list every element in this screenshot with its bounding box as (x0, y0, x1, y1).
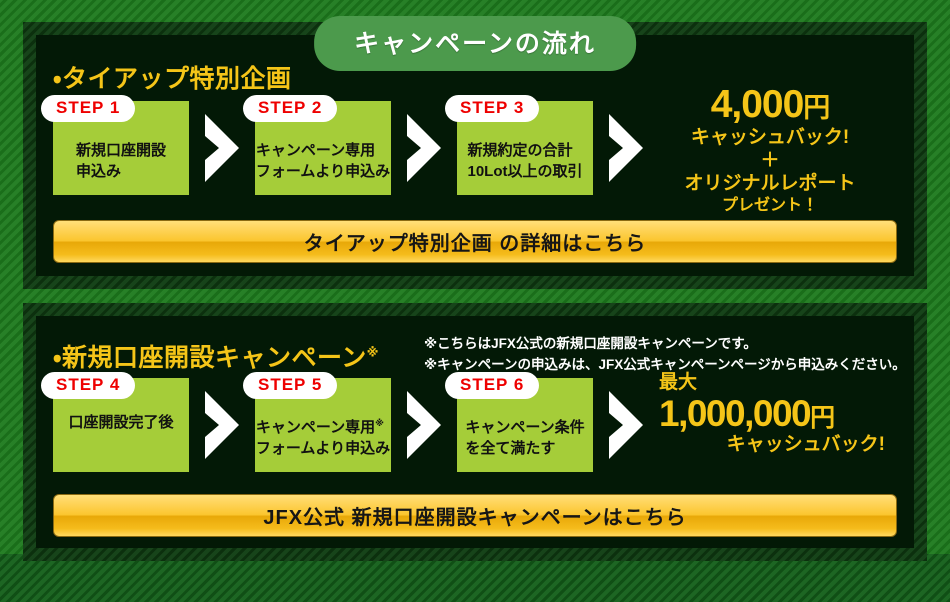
reward-tieup-line-4: オリジナルレポート (659, 172, 881, 196)
section-newaccount-panel: ・新規口座開設キャンペーン※ ※こちらはJFX公式の新規口座開設キャンペーンです… (36, 316, 914, 548)
section-tieup-heading: ・タイアップ特別企画 (53, 59, 292, 95)
step-card-6[interactable]: STEP 6 キャンペーン条件 を全て満たす (457, 378, 593, 472)
section-newaccount-heading-kome: ※ (367, 346, 379, 360)
step-body-3: 新規約定の合計 10Lot以上の取引 (457, 131, 593, 195)
step-text-5-kome: ※ (375, 418, 384, 428)
reward-tieup-amount-value: 4,000 (711, 83, 804, 126)
section-newaccount-heading-text: ・新規口座開設キャンペーン (53, 344, 367, 372)
step-text-4: 口座開設完了後 (68, 412, 173, 433)
page-title: キャンペーンの流れ (314, 16, 636, 71)
reward-tieup-amount: 4,000円 (659, 85, 881, 126)
step-text-6: キャンペーン条件 を全て満たす (465, 417, 584, 460)
cta-tieup-details-label: タイアップ特別企画 の詳細はこちら (304, 227, 647, 256)
reward-newaccount: 最大 1,000,000円 キャッシュバック! (659, 372, 889, 457)
reward-tieup-currency: 円 (803, 93, 829, 123)
step-body-1: 新規口座開設 申込み (53, 131, 189, 195)
step-badge-3: STEP 3 (445, 95, 539, 122)
step-text-2: キャンペーン専用 フォームより申込み (256, 140, 390, 183)
step-body-6: キャンペーン条件 を全て満たす (457, 408, 593, 472)
step-badge-2: STEP 2 (243, 95, 337, 122)
step-card-1[interactable]: STEP 1 新規口座開設 申込み (53, 101, 189, 195)
step-text-1-line-1: 新規口座開設 (76, 140, 166, 161)
step-text-5: キャンペーン専用※ フォームより申込み (256, 417, 390, 460)
step-badge-4: STEP 4 (41, 372, 135, 399)
step-text-5-line-2: フォームより申込み (256, 438, 390, 459)
arrow-icon-3 (593, 101, 659, 195)
reward-newaccount-amount: 1,000,000円 (659, 394, 889, 433)
step-text-2-line-2: フォームより申込み (256, 161, 390, 182)
section-tieup-panel: ・タイアップ特別企画 STEP 1 新規口座開設 申込み (36, 35, 914, 276)
step-text-3-line-2: 10Lot以上の取引 (467, 161, 582, 182)
step-card-4[interactable]: STEP 4 口座開設完了後 (53, 378, 189, 472)
cta-newaccount-label: JFX公式 新規口座開設キャンペーンはこちら (263, 501, 686, 530)
step-text-4-line-1: 口座開設完了後 (68, 412, 173, 433)
step-text-6-line-1: キャンペーン条件 (465, 417, 584, 438)
reward-tieup-line-3: ＋ (659, 150, 881, 172)
step-text-3: 新規約定の合計 10Lot以上の取引 (467, 140, 582, 183)
step-badge-1: STEP 1 (41, 95, 135, 122)
section-newaccount-frame: ・新規口座開設キャンペーン※ ※こちらはJFX公式の新規口座開設キャンペーンです… (23, 303, 927, 561)
fineprint-note-1: ※こちらはJFX公式の新規口座開設キャンペーンです。 (424, 334, 906, 355)
campaign-banner: キャンペーンの流れ ・タイアップ特別企画 STEP 1 新規口座開設 申込み (0, 0, 950, 602)
fineprint-notes: ※こちらはJFX公式の新規口座開設キャンペーンです。 ※キャンペーンの申込みは、… (424, 334, 906, 375)
step-card-5[interactable]: STEP 5 キャンペーン専用※ フォームより申込み (255, 378, 391, 472)
step-text-6-line-2: を全て満たす (465, 438, 584, 459)
section-tieup-heading-text: ・タイアップ特別企画 (53, 65, 292, 93)
step-body-5: キャンペーン専用※ フォームより申込み (255, 408, 391, 472)
section-newaccount-steps: STEP 4 口座開設完了後 STEP 5 (53, 378, 889, 472)
step-card-2[interactable]: STEP 2 キャンペーン専用 フォームより申込み (255, 101, 391, 195)
step-text-1-line-2: 申込み (76, 161, 166, 182)
step-text-5-line-1: キャンペーン専用※ (256, 417, 390, 438)
reward-newaccount-currency: 円 (810, 404, 835, 432)
step-badge-6: STEP 6 (445, 372, 539, 399)
reward-tieup: 4,000円 キャッシュバック! ＋ オリジナルレポート プレゼント！ (659, 85, 881, 217)
arrow-icon-6 (593, 378, 659, 472)
step-body-2: キャンペーン専用 フォームより申込み (255, 131, 391, 195)
cta-tieup-details-button[interactable]: タイアップ特別企画 の詳細はこちら (53, 220, 897, 263)
step-text-1: 新規口座開設 申込み (76, 140, 166, 183)
section-newaccount-heading: ・新規口座開設キャンペーン※ (53, 338, 379, 374)
section-tieup-steps: STEP 1 新規口座開設 申込み STEP 2 (53, 101, 881, 217)
step-badge-5: STEP 5 (243, 372, 337, 399)
step-text-5-line-1-text: キャンペーン専用 (256, 419, 375, 436)
cta-newaccount-button[interactable]: JFX公式 新規口座開設キャンペーンはこちら (53, 494, 897, 537)
reward-newaccount-amount-value: 1,000,000 (659, 393, 810, 434)
step-card-3[interactable]: STEP 3 新規約定の合計 10Lot以上の取引 (457, 101, 593, 195)
reward-newaccount-line-3: キャッシュバック! (659, 433, 889, 457)
reward-newaccount-prefix: 最大 (659, 372, 889, 394)
reward-tieup-line-5: プレゼント！ (659, 196, 881, 216)
step-text-2-line-1: キャンペーン専用 (256, 140, 390, 161)
step-text-3-line-1: 新規約定の合計 (467, 140, 582, 161)
reward-tieup-line-2: キャッシュバック! (659, 126, 881, 151)
